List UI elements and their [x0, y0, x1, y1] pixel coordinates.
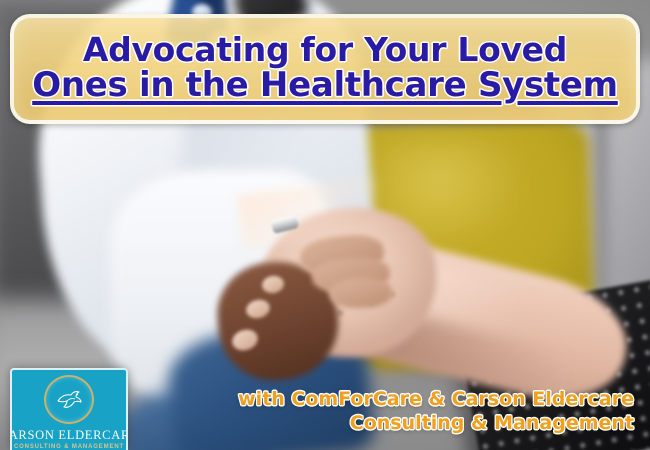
title-banner: Advocating for Your Loved Ones in the He… [10, 14, 640, 124]
carson-eldercare-logo: CARSON ELDERCARE CONSULTING & MANAGEMENT [10, 368, 128, 450]
logo-name: CARSON ELDERCARE [10, 428, 128, 443]
caption-line-2: Consulting & Management [194, 411, 634, 436]
presenter-caption: with ComForCare & Carson Eldercare Consu… [194, 387, 634, 436]
slide-canvas: Advocating for Your Loved Ones in the He… [0, 0, 650, 450]
dove-in-circle-icon [44, 375, 94, 424]
title-line-1: Advocating for Your Loved [83, 33, 567, 68]
title-line-2: Ones in the Healthcare System [32, 67, 618, 103]
caption-line-1: with ComForCare & Carson Eldercare [194, 387, 634, 412]
logo-tagline: CONSULTING & MANAGEMENT [14, 444, 124, 450]
